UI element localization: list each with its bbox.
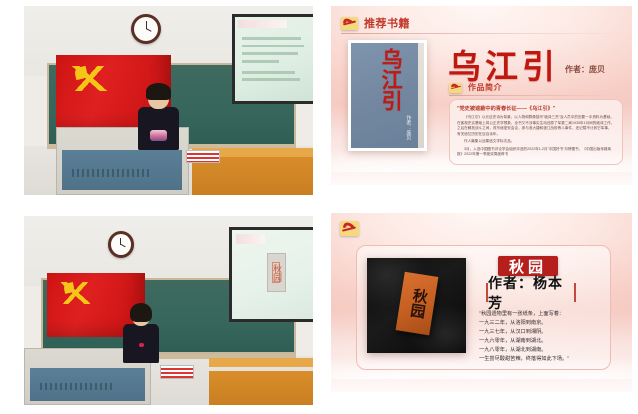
intro-paragraph: 3月，入选中国图书评论学会组织评选的2022年1-2月"中国好书"月榜图书，《中… [457, 147, 615, 158]
student-shirt [138, 107, 180, 150]
chest-badge [139, 343, 144, 347]
student-shirt [123, 324, 159, 363]
book-title: 乌江引 [448, 40, 559, 88]
student-hair [130, 303, 152, 323]
projected-slide-header [236, 234, 265, 244]
quote-line: 一九六零年，从湖南到湖北。 [479, 337, 613, 346]
book-author: 作者：杨本芳 [486, 283, 576, 302]
projector-screen [229, 227, 313, 322]
cover-calligraphy: 乌江引 [373, 48, 402, 136]
book-quote: "秋园遗物里有一张纸条，上面写着： 一九三二年，从洛阳到南京。 一九三七年，从汉… [479, 310, 613, 365]
intro-text-box: "党史被遮蔽中的青春长征——《乌江引》" 《乌江引》以长征史诗为背景，以人物和群… [449, 99, 623, 165]
quote-line: 一九三二年，从洛阳到南京。 [479, 319, 613, 328]
classroom-photo-top [24, 6, 313, 195]
podium-vents [72, 169, 151, 177]
projector-screen [232, 14, 313, 105]
projected-text-line [242, 78, 300, 81]
classroom-scene [24, 6, 313, 195]
header-divider [341, 33, 623, 34]
cover-spine [418, 43, 424, 148]
screenshot-grid: 推荐书籍 乌江引 作者：庞贝 乌江引 作者：庞贝 作品简介 "党史被遮蔽中的青春… [0, 0, 638, 414]
intro-paragraph: 作人篇集以战果遗文学标志品。 [457, 139, 615, 145]
shirt-print [150, 130, 167, 141]
flag-emblem-icon [74, 66, 88, 80]
slide-header: 推荐书籍 [341, 15, 410, 31]
intro-paragraph: 《乌江引》以长征史诗为背景，以人物和群像描写"破译三杰"及人员中的历要一手资料为… [457, 115, 615, 137]
book-stack [160, 365, 194, 378]
classroom-photo-bottom [24, 216, 313, 405]
podium-vents [40, 383, 115, 390]
slide-recommended-books: 推荐书籍 乌江引 作者：庞贝 乌江引 作者：庞贝 作品简介 "党史被遮蔽中的青春… [331, 6, 632, 185]
student-figure [137, 85, 180, 149]
book-cover-qiuyuan: 秋园 [367, 258, 466, 353]
quote-line: "秋园遗物里有一张纸条，上面写着： [479, 310, 613, 319]
intro-divider [449, 95, 621, 96]
classroom-scene [24, 216, 313, 405]
projected-slide-header [238, 20, 286, 28]
projected-text-line [242, 60, 279, 63]
cover-art: 乌江引 作者：庞贝 [351, 43, 424, 148]
book-cover-wujiangyin: 乌江引 作者：庞贝 [348, 40, 427, 151]
projected-text-line [242, 52, 298, 55]
wall-clock-icon [108, 231, 134, 257]
projected-text-line [242, 37, 302, 40]
book-stack [186, 150, 220, 163]
student-hair [146, 83, 171, 100]
flag-emblem-icon [63, 282, 75, 294]
student-figure [122, 305, 160, 364]
party-emblem-icon [341, 17, 358, 30]
cover-author-small: 作者：庞贝 [405, 115, 412, 140]
quote-line: 一九三七年，从汉口到湘阴。 [479, 328, 613, 337]
projected-text-line [242, 71, 295, 74]
intro-header-label: 作品简介 [468, 82, 502, 93]
quote-line: 一生尝尽酸甜苦辣，终落得如此下场。" [479, 355, 613, 364]
intro-section-header: 作品简介 [449, 82, 502, 93]
slide-qiuyuan: 秋园 秋园 作者：杨本芳 "秋园遗物里有一张纸条，上面写着： 一九三二年，从洛阳… [331, 213, 632, 392]
wall-clock-icon [131, 14, 161, 44]
intro-quote: "党史被遮蔽中的青春长征——《乌江引》" [457, 105, 615, 112]
quote-line: 一九八零年，从湖北到湖南。 [479, 346, 613, 355]
projected-book-cover [267, 253, 286, 292]
cover-title-text: 秋园 [402, 279, 431, 329]
wooden-desk [209, 371, 313, 405]
party-emblem-icon [449, 83, 462, 93]
projected-text-line [242, 45, 305, 48]
book-author: 作者：庞贝 [565, 64, 605, 75]
party-emblem-icon [340, 221, 359, 236]
desk-surface [209, 358, 313, 367]
slide-header-label: 推荐书籍 [364, 15, 410, 31]
